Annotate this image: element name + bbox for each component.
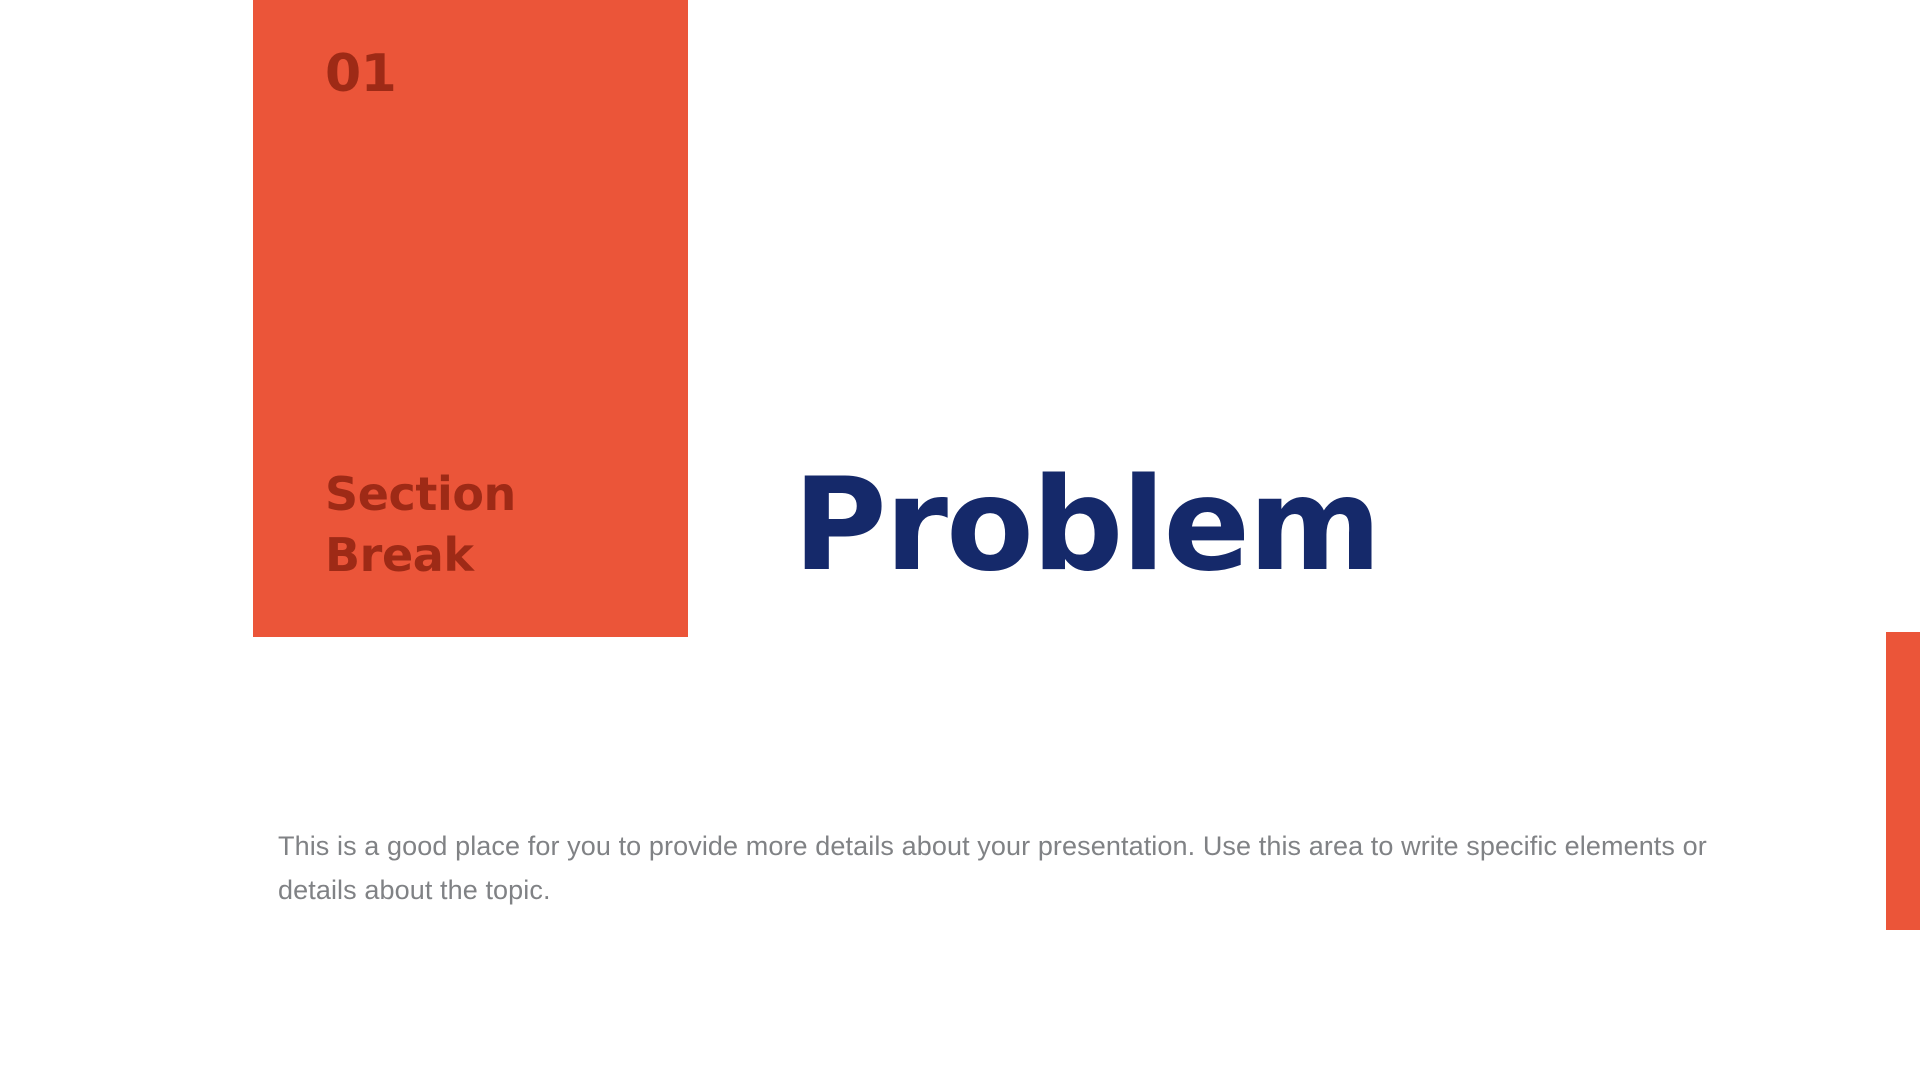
section-number: 01 bbox=[325, 48, 396, 100]
section-break-block[interactable]: 01 Section Break bbox=[253, 0, 688, 637]
slide-body-text[interactable]: This is a good place for you to provide … bbox=[278, 825, 1728, 912]
slide-title[interactable]: Problem bbox=[793, 462, 1380, 590]
section-break-label: Section Break bbox=[325, 464, 665, 586]
section-label-line-1: Section bbox=[325, 464, 665, 525]
slide-canvas: 01 Section Break Problem This is a good … bbox=[0, 0, 1920, 1080]
edge-accent-bar bbox=[1886, 632, 1920, 930]
section-label-line-2: Break bbox=[325, 525, 665, 586]
